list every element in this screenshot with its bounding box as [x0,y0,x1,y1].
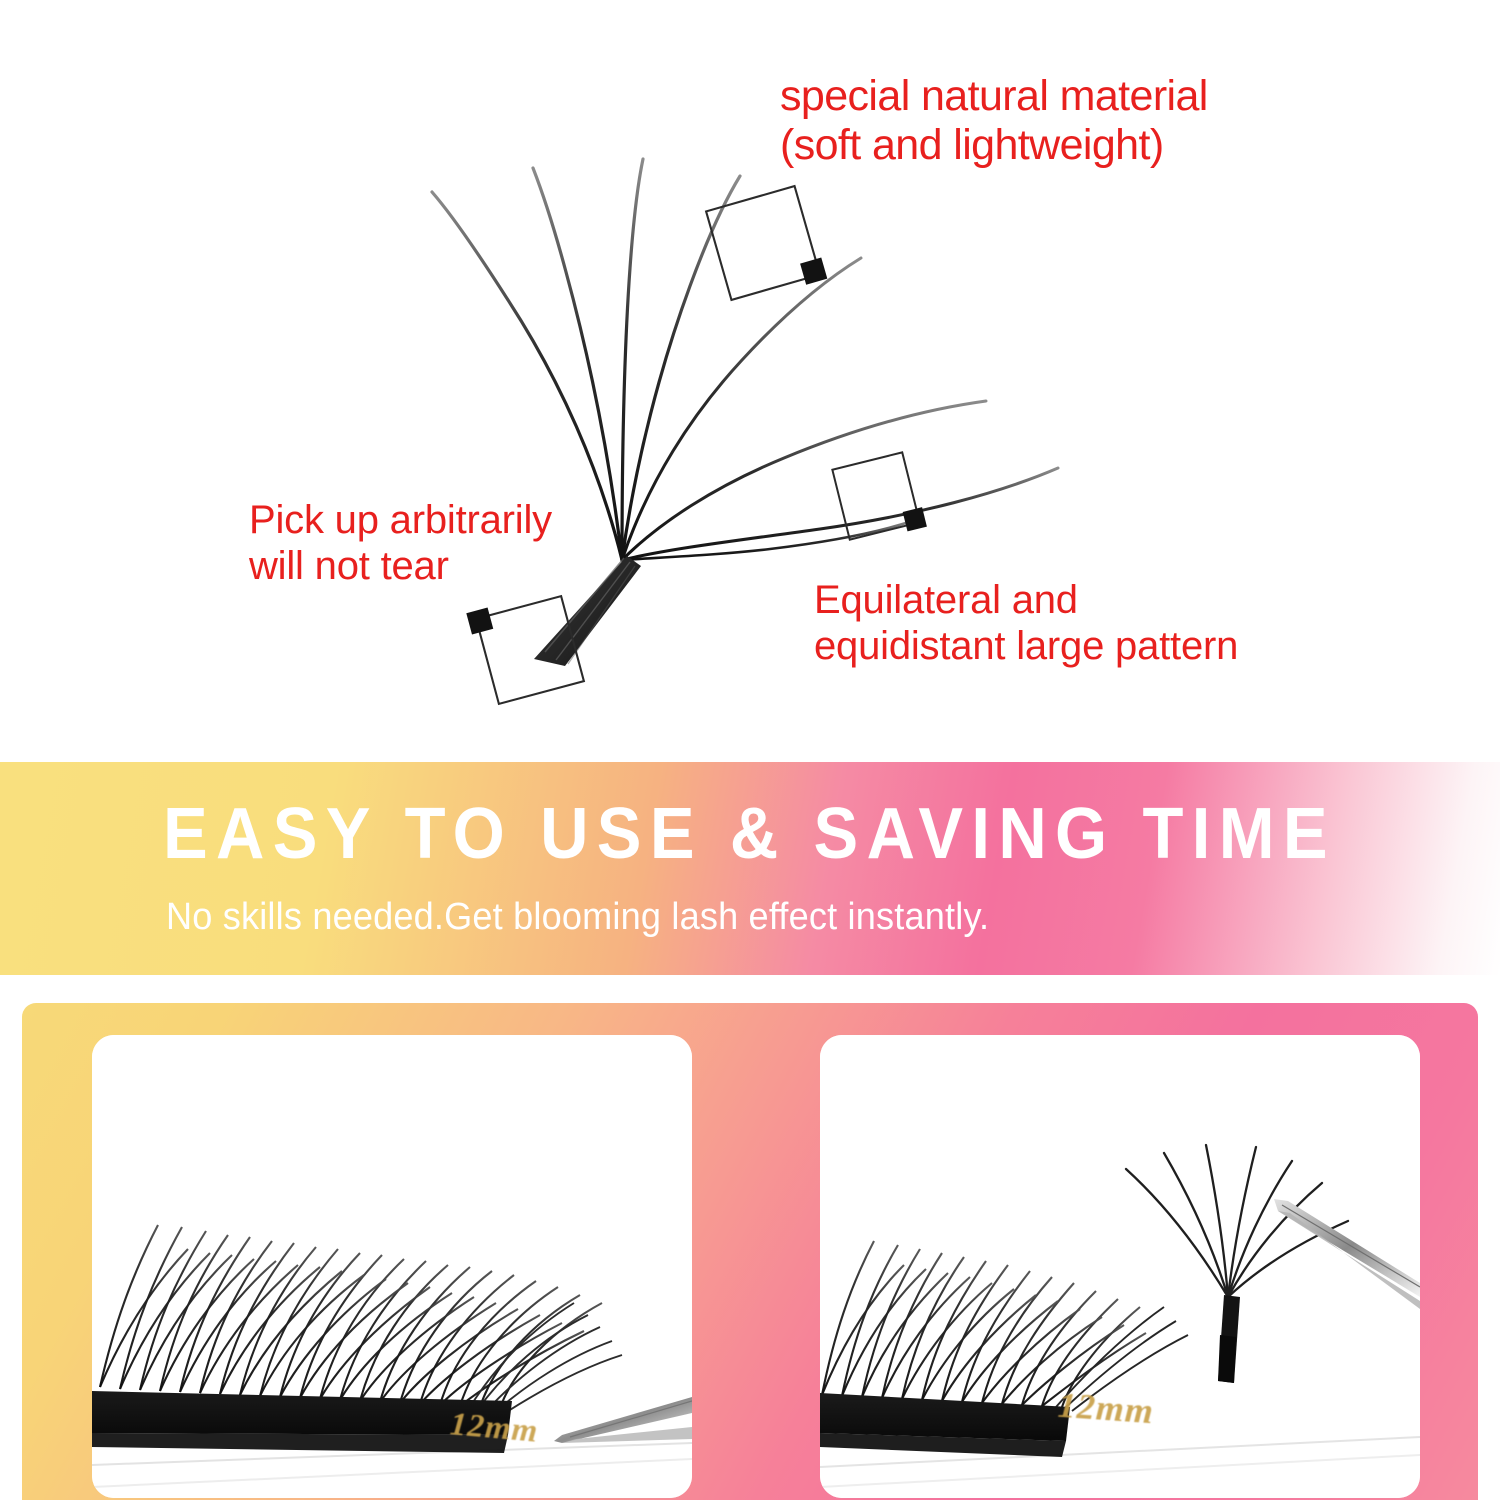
lash-tray-photo [92,1035,692,1498]
photo-card-lash-fan: 12mm [820,1035,1420,1498]
banner-headline: EASY TO USE & SAVING TIME [163,798,1336,870]
size-label-right: 12mm [1057,1384,1156,1433]
callout-equilateral: Equilateral and equidistant large patter… [814,578,1238,669]
callout-marker-middle [832,451,927,546]
callout-special-material: special natural material (soft and light… [780,72,1208,170]
hero-section: special natural material (soft and light… [0,0,1500,752]
photo-panel: 12mm [22,1003,1478,1500]
headline-banner: EASY TO USE & SAVING TIME No skills need… [0,762,1500,975]
callout-pick-up: Pick up arbitrarily will not tear [249,498,552,589]
headline-banner-inner: EASY TO USE & SAVING TIME No skills need… [0,762,1500,975]
banner-subheadline: No skills needed.Get blooming lash effec… [166,898,989,936]
lash-fan-illustration [0,0,1500,752]
product-feature-page: special natural material (soft and light… [0,0,1500,1500]
size-label-left: 12mm [449,1406,540,1451]
photo-card-lash-tray: 12mm [92,1035,692,1498]
